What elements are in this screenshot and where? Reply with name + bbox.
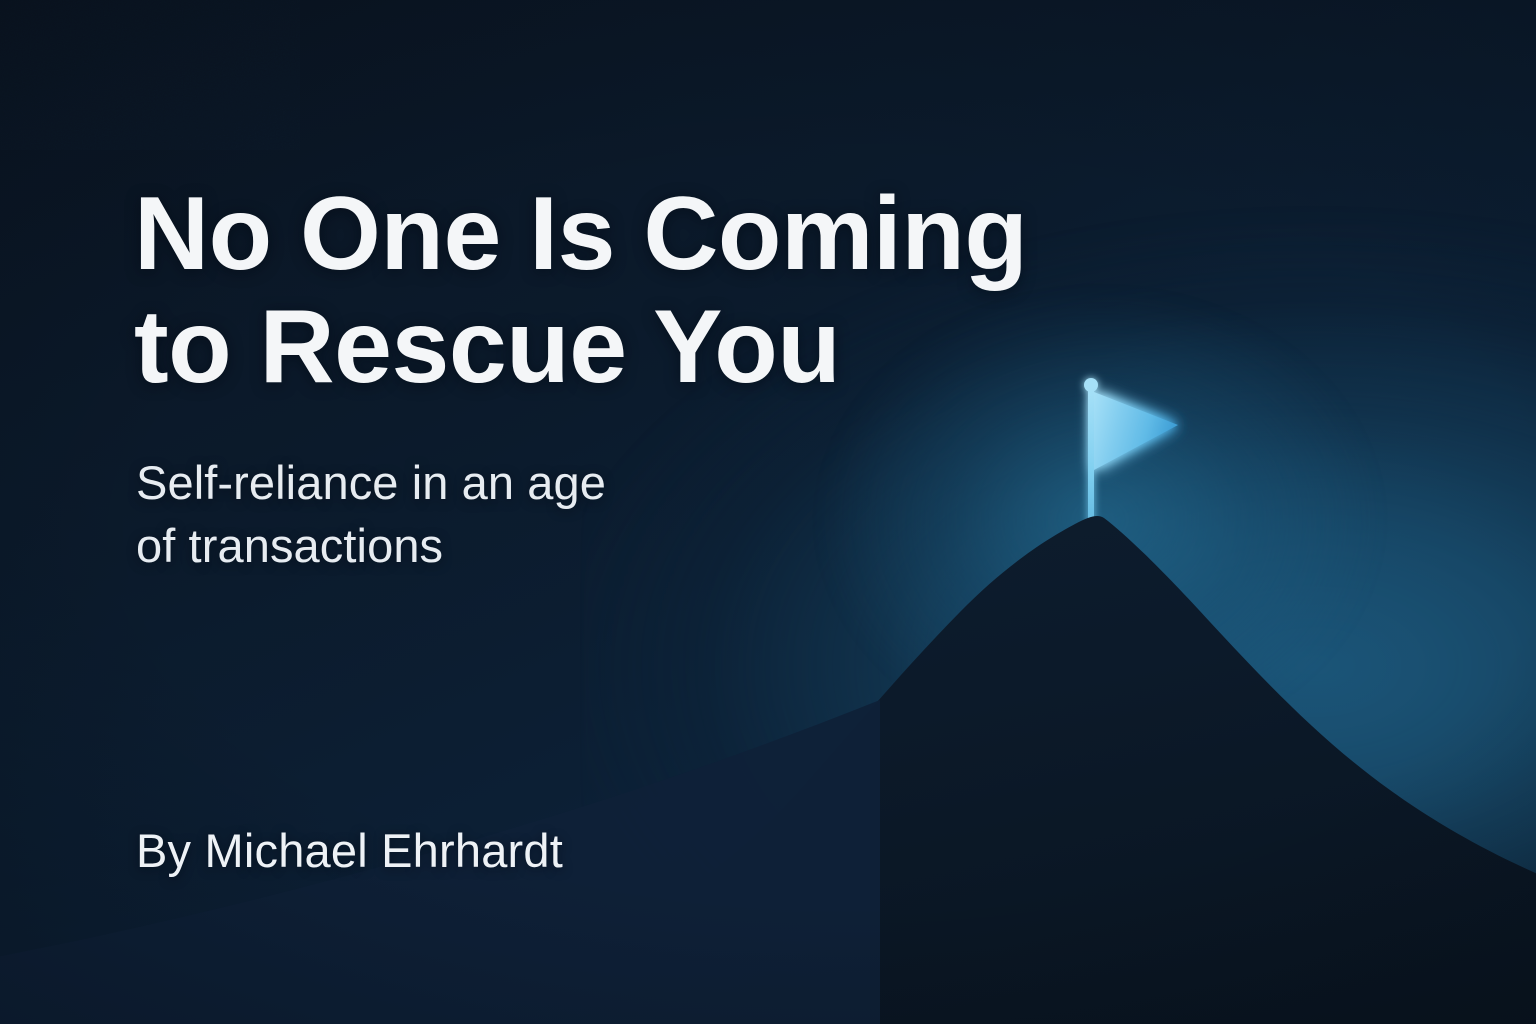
title-line-1: No One Is Coming: [134, 178, 1034, 291]
page-title: No One Is Coming to Rescue You: [134, 178, 1034, 405]
author-byline: By Michael Ehrhardt: [136, 823, 563, 879]
article-cover-image: No One Is Coming to Rescue You Self-reli…: [0, 0, 1536, 1024]
page-subtitle: Self-reliance in an age of transactions: [136, 452, 696, 577]
subtitle-line-1: Self-reliance in an age: [136, 452, 696, 515]
subtitle-line-2: of transactions: [136, 515, 696, 578]
cover-text-layer: No One Is Coming to Rescue You Self-reli…: [0, 0, 1536, 1024]
title-line-2: to Rescue You: [134, 291, 1034, 404]
